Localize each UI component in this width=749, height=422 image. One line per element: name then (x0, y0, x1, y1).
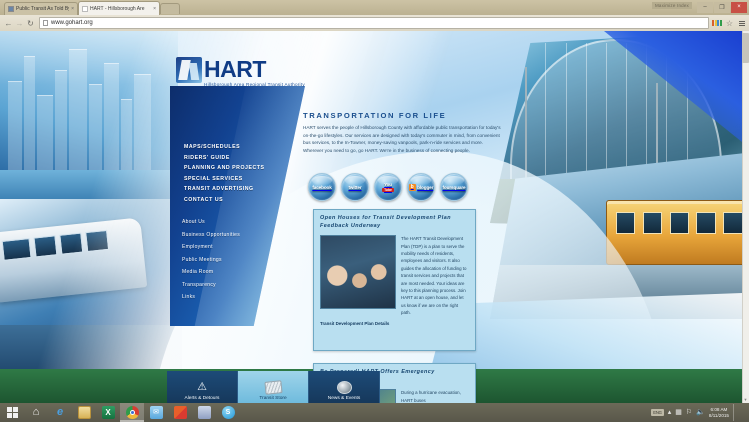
page-title: TRANSPORTATION FOR LIFE (303, 111, 503, 120)
hart-logomark-icon (176, 57, 202, 83)
video-favicon (8, 6, 14, 12)
transit-pass-icon (264, 379, 282, 395)
url-text: www.gohart.org (51, 20, 93, 26)
twitter-icon[interactable]: twitter (341, 173, 369, 201)
hamburger-menu-icon[interactable] (737, 17, 746, 29)
clock-date: 8/11/2015 (709, 413, 729, 419)
internet-explorer-icon[interactable]: e (48, 403, 72, 422)
office-icon[interactable] (168, 403, 192, 422)
reload-icon[interactable]: ↻ (25, 17, 36, 29)
maximize-hint-label: Maximize Index (652, 2, 692, 9)
browser-toolbar: ← → ↻ www.gohart.org ☆ (0, 15, 749, 31)
facebook-icon[interactable]: facebook (308, 173, 336, 201)
forward-icon[interactable]: → (14, 17, 25, 29)
windows-taskbar: ⌂ e X ✉ S ENG ▴ ▦ ⚐ 🔈 6:08 AM 8/11/2015 (0, 403, 749, 422)
nav-item-business-opportunities[interactable]: Business Opportunities (182, 232, 282, 238)
footer-button-news-and-events[interactable]: News & Events (309, 371, 380, 403)
page-favicon (82, 6, 88, 12)
toolbar-actions: ☆ (712, 17, 746, 29)
footer-button-transit-store[interactable]: Transit Store (238, 371, 309, 403)
open-house-photo (320, 235, 396, 309)
taskbar-items: ⌂ e X ✉ S (24, 403, 240, 422)
clock[interactable]: 6:08 AM 8/11/2015 (709, 407, 729, 419)
show-desktop-button[interactable] (733, 404, 746, 421)
scrollbar-thumb[interactable] (742, 33, 749, 63)
hero-copy: TRANSPORTATION FOR LIFE HART serves the … (303, 111, 503, 154)
page-info-icon[interactable] (43, 20, 48, 26)
chrome-browser-window: Public Transit As Told By : × HART - Hil… (0, 0, 749, 403)
tab-title: Public Transit As Told By : (16, 6, 69, 12)
logo-tagline: Hillsborough Area Regional Transit Autho… (204, 82, 305, 87)
nav-item-employment[interactable]: Employment (182, 244, 282, 250)
footer-button-label: Alerts & Detours (185, 396, 220, 401)
footer-strip: ⚠ Alerts & Detours Transit Store News & … (0, 371, 742, 403)
nav-item-links[interactable]: Links (182, 294, 282, 300)
excel-icon[interactable]: X (96, 403, 120, 422)
close-icon[interactable]: × (153, 6, 156, 12)
onenote-icon[interactable] (192, 403, 216, 422)
hero-body-text: HART serves the people of Hillsborough C… (303, 124, 503, 154)
star-icon[interactable]: ☆ (724, 17, 735, 29)
home-icon[interactable]: ⌂ (24, 403, 48, 422)
windows-start-icon[interactable] (0, 403, 24, 422)
nav-item-riders-guide[interactable]: RIDERS' GUIDE (184, 155, 289, 161)
foursquare-icon[interactable]: foursquare (440, 173, 468, 201)
minimize-button[interactable]: – (697, 2, 713, 13)
address-bar[interactable]: www.gohart.org (39, 17, 709, 29)
system-tray: ENG ▴ ▦ ⚐ 🔈 6:08 AM 8/11/2015 (651, 403, 749, 422)
extension-swatch-icon[interactable] (712, 20, 722, 26)
keyboard-language-button[interactable]: ENG (651, 409, 663, 416)
close-icon[interactable]: × (71, 6, 74, 12)
volume-icon[interactable]: 🔈 (696, 409, 705, 416)
back-icon[interactable]: ← (3, 17, 14, 29)
nav-item-transparency[interactable]: Transparency (182, 282, 282, 288)
scroll-down-icon[interactable]: ▼ (742, 396, 749, 403)
footer-button-alerts-and-detours[interactable]: ⚠ Alerts & Detours (167, 371, 238, 403)
footer-button-label: Transit Store (259, 396, 286, 401)
chrome-icon[interactable] (120, 403, 144, 422)
flag-icon[interactable]: ⚐ (686, 409, 692, 416)
logo-wordmark: HART (204, 57, 266, 81)
clock-time: 6:08 AM (709, 407, 729, 413)
browser-tab-1[interactable]: Public Transit As Told By : × (4, 2, 78, 15)
blogger-icon[interactable]: b blogger (407, 173, 435, 201)
youtube-icon[interactable]: You Tube (374, 173, 402, 201)
nav-item-planning-and-projects[interactable]: PLANNING AND PROJECTS (184, 165, 289, 171)
new-tab-button[interactable] (160, 3, 180, 14)
nav-item-contact-us[interactable]: CONTACT US (184, 197, 289, 203)
nav-item-media-room[interactable]: Media Room (182, 269, 282, 275)
news-card-transit-development-plan[interactable]: Open Houses for Transit Development Plan… (313, 209, 476, 351)
page-scrollbar[interactable] (742, 31, 749, 403)
skype-icon[interactable]: S (216, 403, 240, 422)
page-viewport: HART Hillsborough Area Regional Transit … (0, 31, 749, 403)
tab-strip: Public Transit As Told By : × HART - Hil… (0, 0, 749, 15)
nav-item-about-us[interactable]: About Us (182, 219, 282, 225)
card-title: Open Houses for Transit Development Plan… (320, 215, 469, 230)
hart-logo[interactable]: HART Hillsborough Area Regional Transit … (176, 57, 308, 93)
footer-button-label: News & Events (328, 396, 361, 401)
secondary-navigation: About Us Business Opportunities Employme… (182, 219, 282, 307)
warning-triangle-icon: ⚠ (193, 379, 211, 395)
close-button[interactable]: × (731, 2, 747, 13)
footer-quick-links: ⚠ Alerts & Detours Transit Store News & … (167, 371, 380, 403)
nav-item-public-meetings[interactable]: Public Meetings (182, 257, 282, 263)
browser-tab-2[interactable]: HART - Hillsborough Are × (78, 1, 160, 15)
social-links: facebook twitter You Tube b blogger four… (308, 173, 468, 201)
mail-icon[interactable]: ✉ (144, 403, 168, 422)
show-hidden-icons-button[interactable]: ▴ (668, 409, 672, 416)
nav-item-maps-schedules[interactable]: MAPS/SCHEDULES (184, 144, 289, 150)
maximize-button[interactable]: ❐ (714, 2, 730, 13)
primary-navigation: MAPS/SCHEDULES RIDERS' GUIDE PLANNING AN… (184, 144, 289, 207)
card-link-transit-development-plan-details[interactable]: Transit Development Plan Details (320, 321, 469, 326)
tab-title: HART - Hillsborough Are (90, 6, 151, 12)
hero-banner: HART Hillsborough Area Regional Transit … (0, 31, 742, 403)
file-explorer-icon[interactable] (72, 403, 96, 422)
newspaper-disc-icon (335, 379, 353, 395)
window-controls: – ❐ × (697, 1, 747, 13)
nav-item-transit-advertising[interactable]: TRANSIT ADVERTISING (184, 186, 289, 192)
nav-item-special-services[interactable]: SPECIAL SERVICES (184, 176, 289, 182)
network-icon[interactable]: ▦ (675, 409, 682, 416)
